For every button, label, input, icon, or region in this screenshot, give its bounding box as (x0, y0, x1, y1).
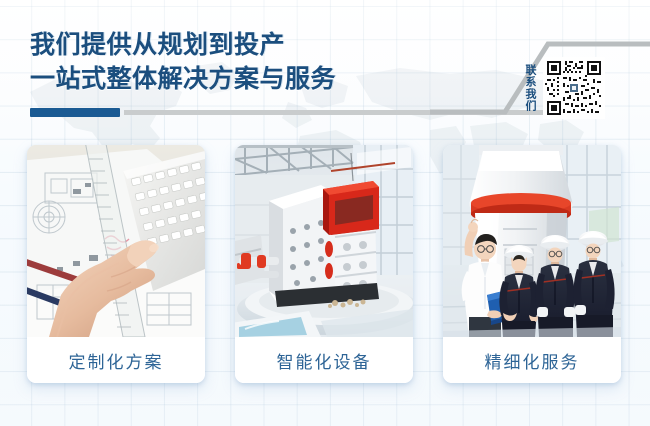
feature-card[interactable]: 智能化设备 (235, 145, 413, 383)
feature-card[interactable]: 定制化方案 (27, 145, 205, 383)
banner-header: 我们提供从规划到投产 一站式整体解决方案与服务 联系我们 (0, 0, 650, 140)
headline-line-1: 我们提供从规划到投产 (30, 28, 460, 62)
promo-banner: 我们提供从规划到投产 一站式整体解决方案与服务 联系我们 (0, 0, 650, 426)
feature-card-row: 定制化方案 (0, 145, 650, 390)
card-photo-custom-solution (27, 145, 205, 337)
headline-line-2: 一站式整体解决方案与服务 (30, 62, 460, 96)
card-label: 智能化设备 (235, 337, 413, 383)
contact-qr-block[interactable]: 联系我们 (524, 50, 630, 126)
card-label: 定制化方案 (27, 337, 205, 383)
qr-code-icon[interactable] (543, 57, 605, 119)
card-photo-fine-service (443, 145, 621, 337)
card-label: 精细化服务 (443, 337, 621, 383)
accent-bar (30, 108, 120, 117)
headline: 我们提供从规划到投产 一站式整体解决方案与服务 (30, 28, 460, 96)
contact-caption: 联系我们 (524, 54, 537, 122)
feature-card[interactable]: 精细化服务 (443, 145, 621, 383)
card-photo-smart-equipment (235, 145, 413, 337)
accent-rule (124, 110, 556, 115)
